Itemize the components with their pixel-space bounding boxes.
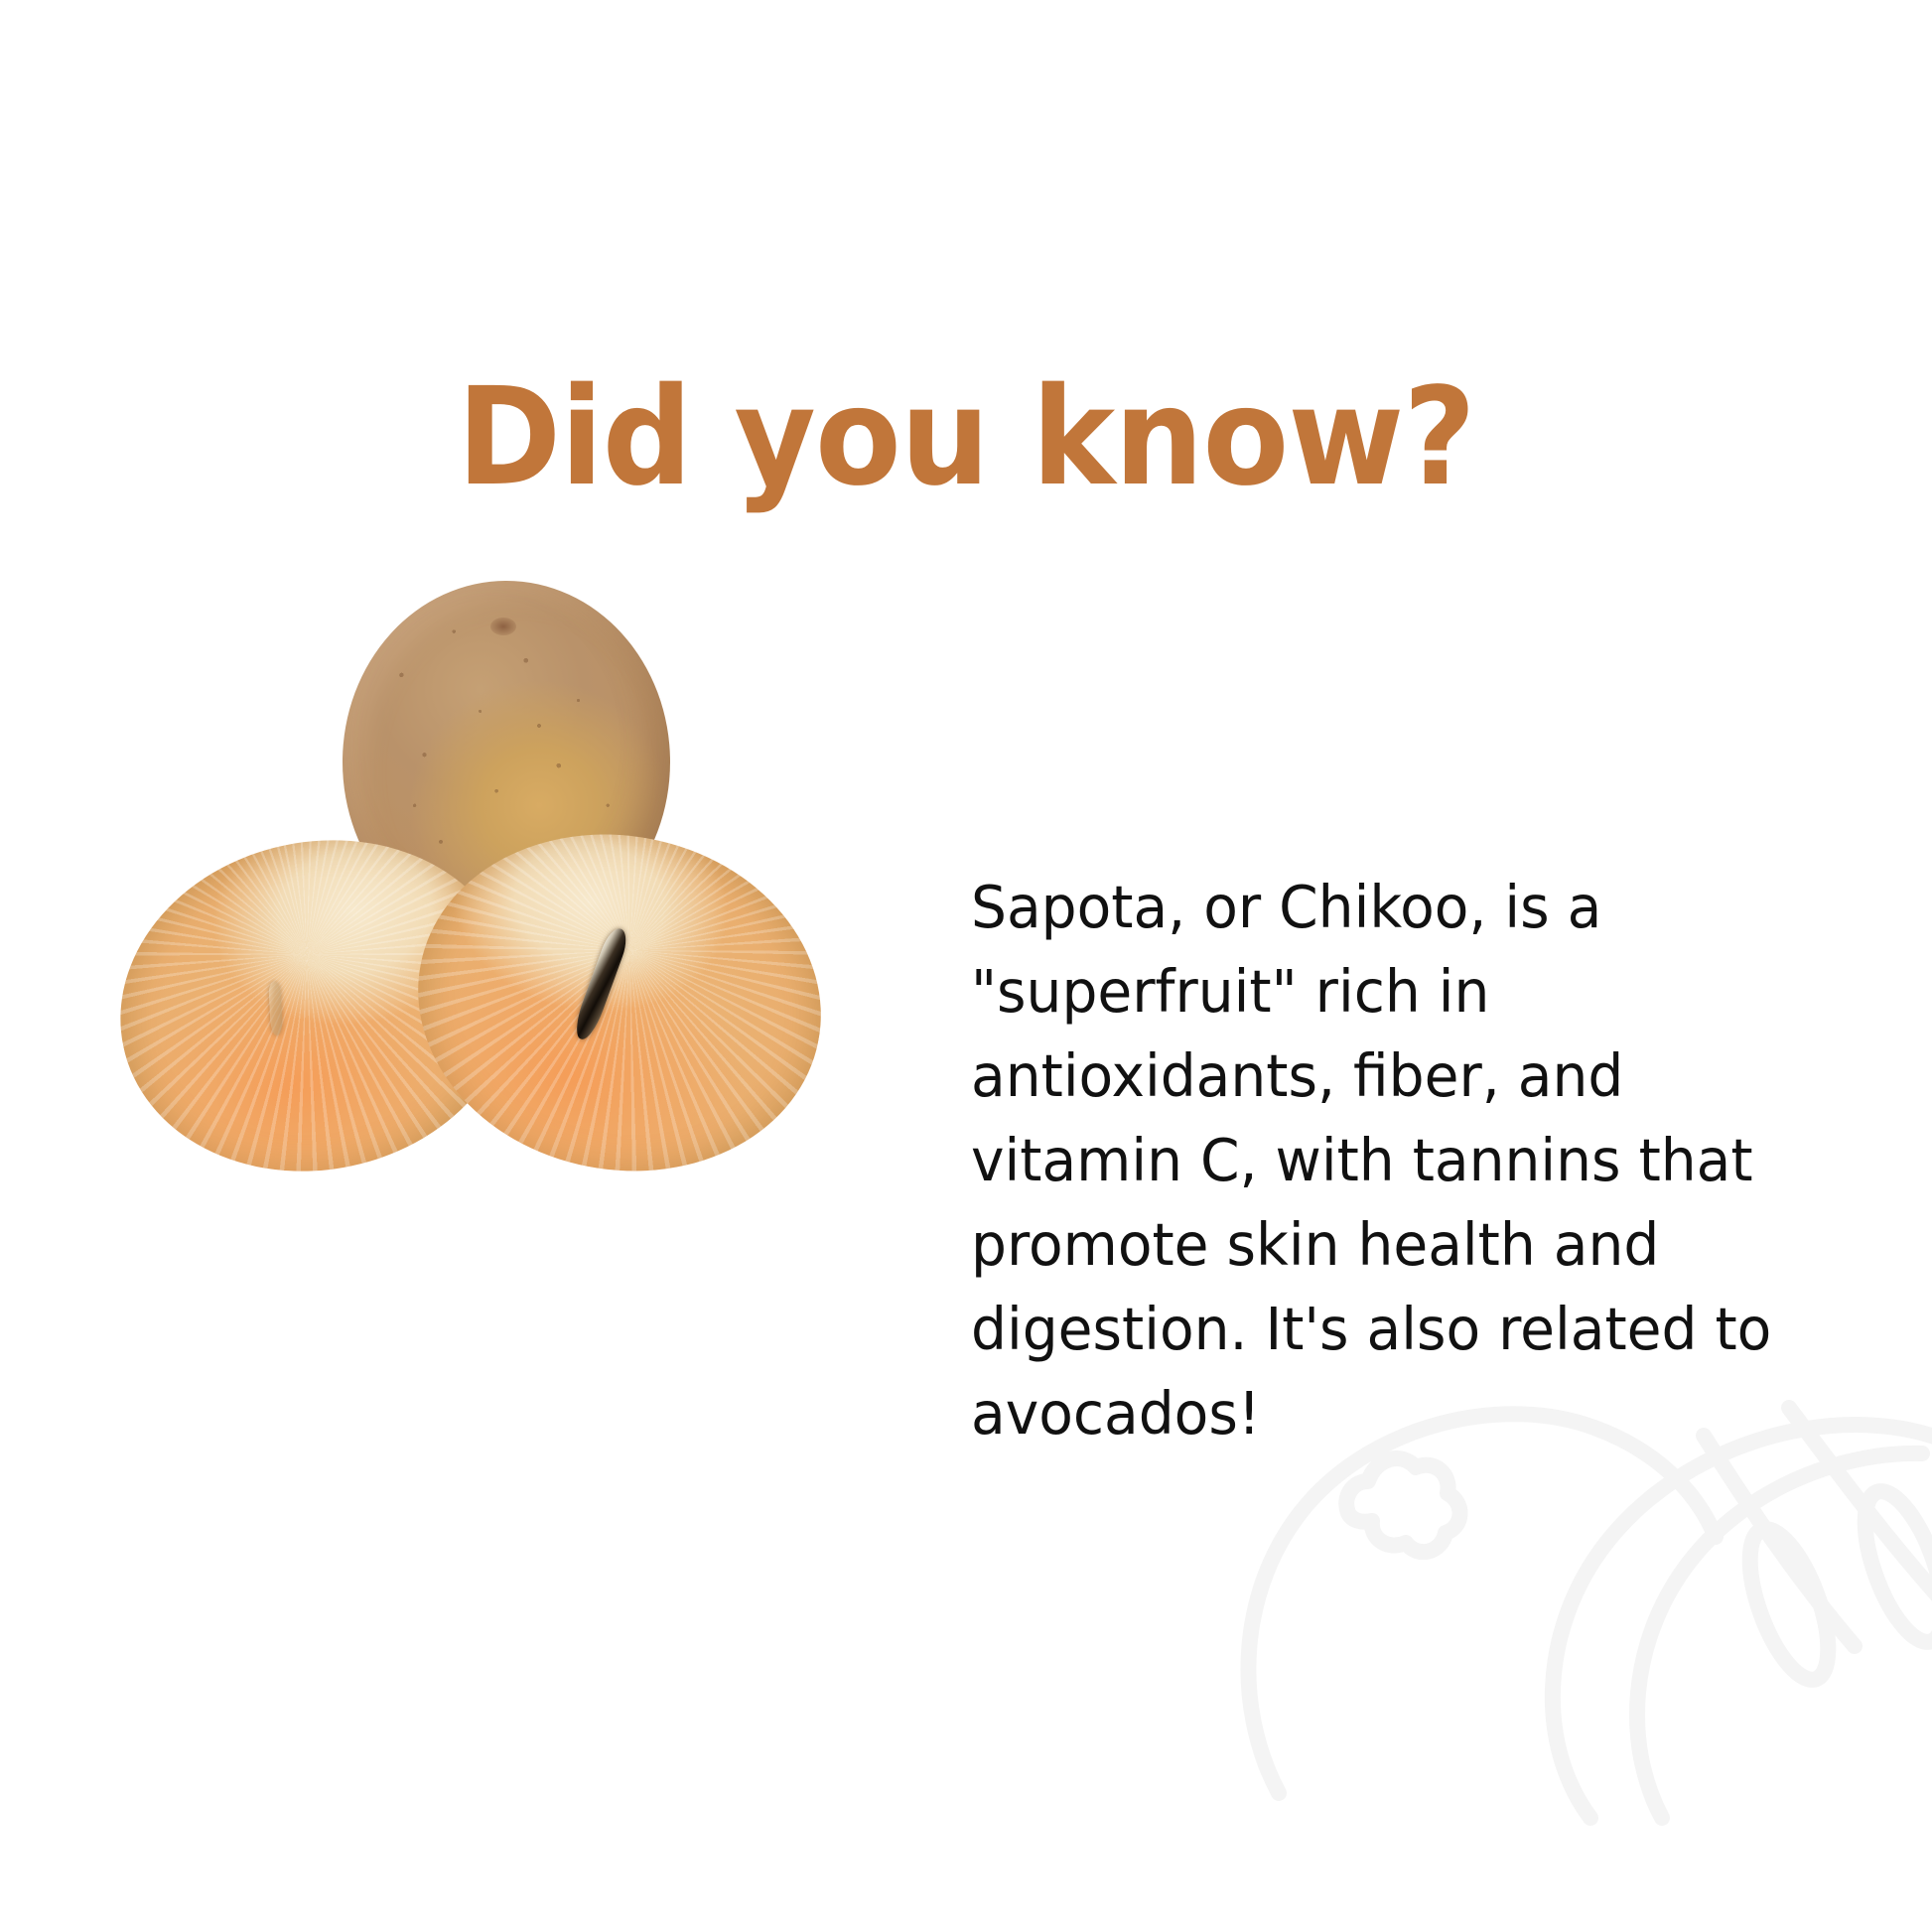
sapota-fruit-image [119,576,854,1191]
page-title: Did you know? [68,370,1864,505]
watermark-cut-half-outline [1553,1425,1932,1818]
fruit-stem-scar [490,618,516,635]
poster-canvas: Did you know? Sapota, or Chikoo, is a "s… [0,0,1932,1932]
watermark-calyx-star-icon [1346,1458,1459,1552]
watermark-cut-half-inner-line [1637,1453,1922,1818]
watermark-whole-fruit-outline [1248,1414,1716,1793]
watermark-flesh-line-2 [1789,1408,1932,1626]
watermark-seed-1 [1733,1520,1844,1690]
watermark-flesh-line-1 [1704,1436,1855,1646]
flesh-fibers-right [389,800,851,1205]
cut-half-right [389,800,851,1205]
body-paragraph: Sapota, or Chikoo, is a "superfruit" ric… [971,865,1771,1455]
watermark-seed-2 [1849,1482,1932,1652]
